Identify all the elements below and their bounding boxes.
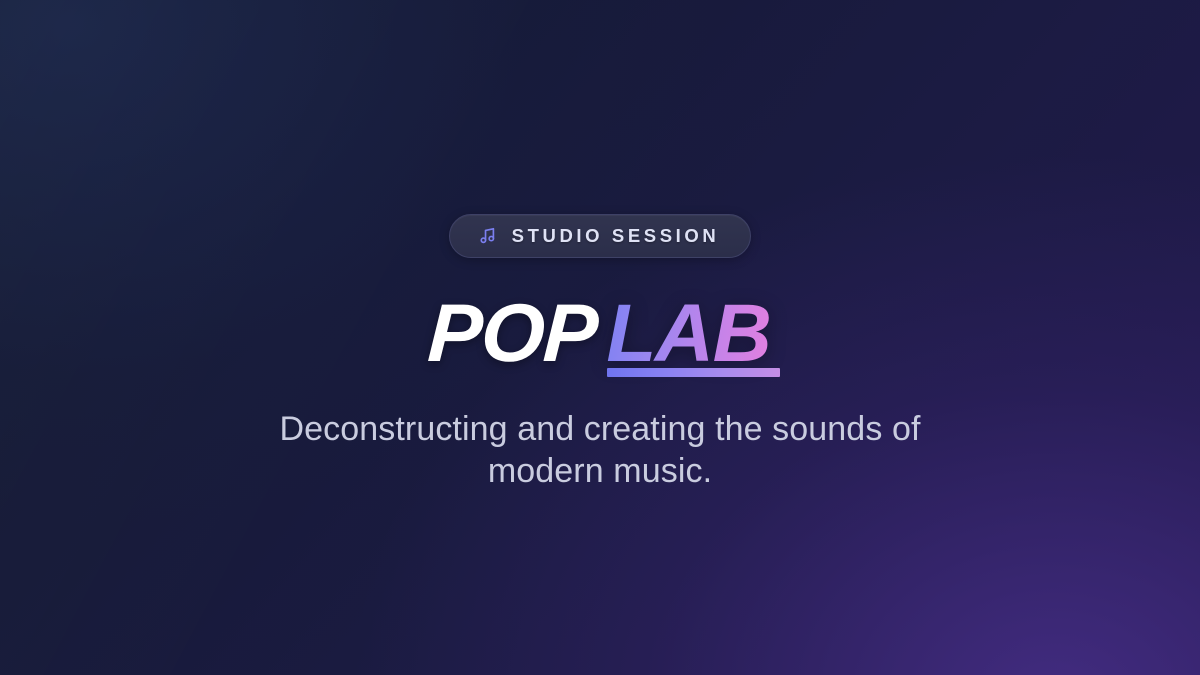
hero-content: STUDIO SESSION POP LAB Deconstructing an… <box>0 214 1200 493</box>
page-title: POP LAB <box>428 300 773 367</box>
title-word-accent: LAB <box>606 288 770 379</box>
title-word-primary: POP <box>426 300 608 367</box>
music-note-icon <box>478 226 499 246</box>
title-underline-bar <box>607 368 780 377</box>
subtitle-text: Deconstructing and creating the sounds o… <box>250 409 950 493</box>
slide-canvas: STUDIO SESSION POP LAB Deconstructing an… <box>0 0 1200 675</box>
title-accent-group: LAB <box>606 300 772 367</box>
studio-session-badge-label: STUDIO SESSION <box>512 227 720 246</box>
studio-session-badge[interactable]: STUDIO SESSION <box>449 214 752 258</box>
